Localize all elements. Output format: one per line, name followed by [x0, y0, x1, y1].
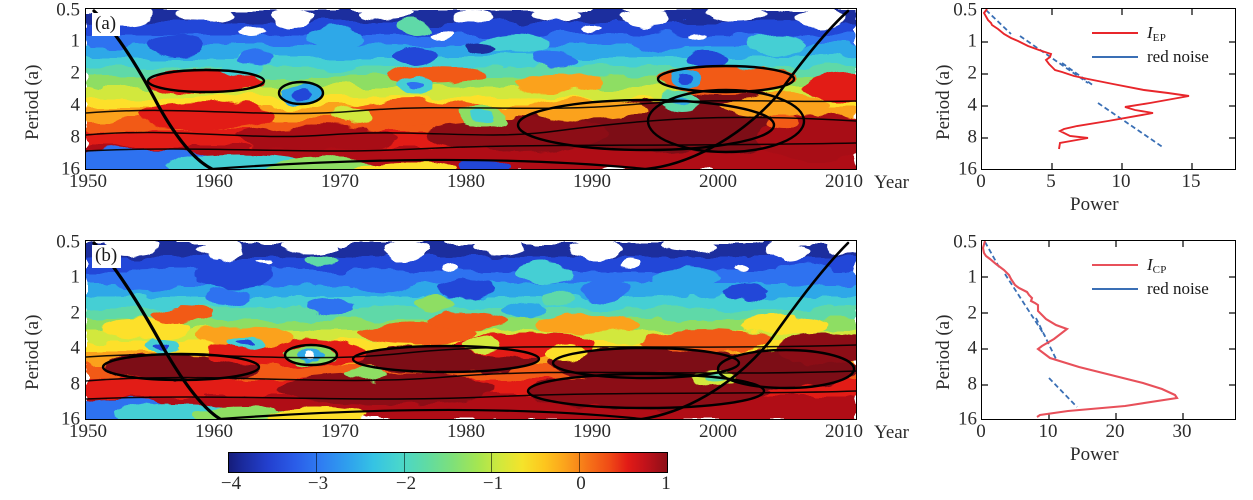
panel-a-tag: (a) — [92, 13, 120, 36]
panel-a-xtick-1: 1960 — [195, 172, 233, 191]
panel-b-plot[interactable]: (b) — [85, 240, 857, 420]
legend-row-ep: IEP — [1092, 21, 1209, 45]
spectrum-ep-ytick-4: 8 — [968, 128, 978, 147]
panel-a-ylabel: Period (a) — [22, 65, 44, 140]
colorbar-sep-4 — [579, 453, 580, 472]
panel-a-xtick-0: 1950 — [69, 172, 107, 191]
panel-b-xtick-5: 2000 — [699, 422, 737, 441]
spectrum-cp-xtick-3: 30 — [1173, 422, 1192, 441]
panel-b-xtick-2: 1970 — [321, 422, 359, 441]
panel-a-xtick-4: 1990 — [573, 172, 611, 191]
panel-a-ytick-4: 8 — [71, 128, 81, 147]
legend-label-rednoise-top: red noise — [1147, 47, 1209, 67]
panel-a-xtick-2: 1970 — [321, 172, 359, 191]
panel-a-xtick-3: 1980 — [447, 172, 485, 191]
spectrum-cp-ytick-5: 16 — [958, 410, 977, 429]
spectrum-cp-ytick-0: 0.5 — [953, 233, 977, 252]
panel-b-ytick-0: 0.5 — [56, 233, 80, 252]
legend-swatch-ep — [1092, 32, 1138, 34]
panel-b-ytick-1: 1 — [71, 268, 81, 287]
spectrum-ep-legend: IEP red noise — [1092, 21, 1209, 69]
spectrum-cp-ytick-3: 4 — [968, 339, 978, 358]
panel-b-xtick-4: 1990 — [573, 422, 611, 441]
panel-a-ytick-0: 0.5 — [56, 1, 80, 20]
spectrum-ep-plot[interactable]: IEP red noise — [981, 8, 1236, 170]
panel-b-xtick-0: 1950 — [69, 422, 107, 441]
legend-label-ep: IEP — [1147, 23, 1166, 43]
spectrum-cp-xtick-0: 0 — [976, 422, 986, 441]
panel-a-xlabel: Year — [874, 172, 909, 194]
spectrum-cp-ytick-2: 2 — [968, 304, 978, 323]
panel-b-ylabel: Period (a) — [22, 315, 44, 390]
colorbar-tick-4: 0 — [576, 474, 586, 493]
panel-a-ytick-3: 4 — [71, 96, 81, 115]
panel-a-ytick-1: 1 — [71, 32, 81, 51]
panel-a-plot[interactable]: (a) — [85, 8, 857, 170]
spectrum-cp-plot[interactable]: ICP red noise — [981, 240, 1236, 420]
panel-a-xtick-5: 2000 — [699, 172, 737, 191]
wavelet-figure: Period (a) 0.5 1 2 4 8 16 — [0, 0, 1253, 500]
colorbar-gradient — [229, 453, 667, 472]
panel-a-contour-svg — [86, 9, 856, 169]
legend-swatch-cp — [1092, 264, 1138, 266]
spectrum-ep-xtick-1: 5 — [1046, 172, 1056, 191]
spectrum-cp-legend: ICP red noise — [1092, 253, 1209, 301]
spectrum-cp-xtick-2: 20 — [1106, 422, 1125, 441]
legend-swatch-rednoise-top — [1092, 56, 1138, 58]
spectrum-ep-xtick-0: 0 — [976, 172, 986, 191]
panel-b-xlabel: Year — [874, 422, 909, 444]
spectrum-ep-ylabel: Period (a) — [933, 65, 955, 140]
colorbar-tick-0: −4 — [221, 474, 241, 493]
spectrum-ep-xtick-3: 15 — [1182, 172, 1201, 191]
panel-b-ytick-3: 4 — [71, 339, 81, 358]
spectrum-ep-ytick-5: 16 — [958, 160, 977, 179]
colorbar — [228, 452, 668, 473]
legend-row-rednoise-bottom: red noise — [1092, 277, 1209, 301]
colorbar-tick-5: 1 — [661, 474, 671, 493]
panel-b-xtick-3: 1980 — [447, 422, 485, 441]
legend-row-cp: ICP — [1092, 253, 1209, 277]
legend-swatch-rednoise-bottom — [1092, 288, 1138, 290]
spectrum-cp-xlabel: Power — [1070, 444, 1119, 466]
legend-label-cp: ICP — [1147, 255, 1167, 275]
panel-b-xtick-6: 2010 — [825, 422, 863, 441]
colorbar-sep-2 — [404, 453, 405, 472]
spectrum-ep-xtick-2: 10 — [1112, 172, 1131, 191]
legend-label-rednoise-bottom: red noise — [1147, 279, 1209, 299]
panel-b-xtick-1: 1960 — [195, 422, 233, 441]
colorbar-tick-1: −3 — [308, 474, 328, 493]
spectrum-cp-xtick-1: 10 — [1039, 422, 1058, 441]
colorbar-tick-2: −2 — [396, 474, 416, 493]
spectrum-ep-ytick-1: 1 — [968, 32, 978, 51]
spectrum-ep-xlabel: Power — [1070, 194, 1119, 216]
colorbar-tick-3: −1 — [483, 474, 503, 493]
spectrum-cp-ytick-1: 1 — [968, 268, 978, 287]
spectrum-ep-ytick-0: 0.5 — [953, 1, 977, 20]
panel-b-contour-svg — [86, 241, 856, 419]
panel-b-tag: (b) — [92, 245, 121, 268]
spectrum-cp-ylabel: Period (a) — [933, 315, 955, 390]
panel-b-ytick-4: 8 — [71, 375, 81, 394]
panel-b-ytick-2: 2 — [71, 304, 81, 323]
colorbar-sep-3 — [491, 453, 492, 472]
colorbar-sep-1 — [316, 453, 317, 472]
spectrum-ep-ytick-2: 2 — [968, 64, 978, 83]
panel-a-xtick-6: 2010 — [825, 172, 863, 191]
panel-a-ytick-2: 2 — [71, 64, 81, 83]
spectrum-cp-ytick-4: 8 — [968, 375, 978, 394]
legend-row-rednoise-top: red noise — [1092, 45, 1209, 69]
spectrum-ep-ytick-3: 4 — [968, 96, 978, 115]
